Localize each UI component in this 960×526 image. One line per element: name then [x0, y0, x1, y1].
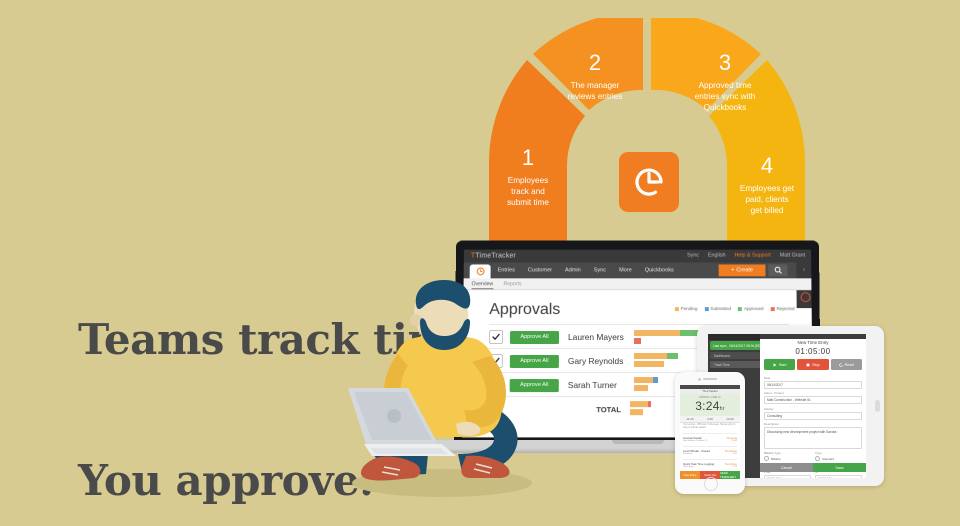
radio-icon — [764, 456, 769, 461]
app-top-bar: TTimeTracker Sync English Help & Support… — [464, 250, 811, 263]
field-label-type: Type — [815, 451, 862, 455]
segment-2-line2: reviews entries — [568, 92, 623, 101]
employee-name: Sarah Turner — [568, 380, 634, 390]
phone-timer-panel: MONDAY, JUNE 14 3:24hr — [680, 394, 740, 417]
legend-swatch-pending — [675, 307, 679, 311]
list-item-status: No Action — [725, 462, 737, 466]
bar-pending — [634, 353, 667, 359]
list-item-duration: 0:45 — [725, 453, 737, 455]
tablet-timer-display: 01:05:00 — [760, 347, 866, 356]
start-button-label: Start — [779, 363, 787, 367]
bar-submitted — [653, 377, 658, 383]
field-label-client-project: Client - Project — [764, 391, 862, 395]
create-button[interactable]: + Create — [719, 264, 766, 276]
list-item-title: Lunch Break - ClosedStandard — [683, 449, 710, 455]
list-item-label: Contract Detail — [683, 436, 702, 440]
list-item-value: No Action0:45 — [725, 449, 737, 455]
bar-pending-2 — [630, 409, 643, 415]
list-item[interactable]: Lunch Break - ClosedStandard No Action0:… — [683, 446, 737, 455]
from-time-field[interactable]: 09:00 AM — [764, 475, 811, 478]
radio-label: Standard — [822, 457, 834, 461]
nav-item-entries[interactable]: Entries — [498, 267, 515, 273]
stop-icon — [806, 363, 810, 367]
nav-item-customer[interactable]: Customer — [528, 267, 552, 273]
radio-billable[interactable]: Billable — [764, 456, 811, 461]
plus-icon: + — [731, 267, 734, 273]
client-project-select[interactable]: Matt Construction - Website #1 — [764, 396, 862, 404]
list-item-sub: Consulting — [683, 466, 714, 468]
sync-status-banner[interactable]: Last sync - 06/14/2017 09:04 (EDT) — [710, 341, 761, 350]
search-button[interactable] — [768, 264, 787, 276]
list-item-title: Quick Task Time LoggingConsulting — [683, 462, 714, 468]
tablet-page-title: New Time Entry — [760, 340, 866, 345]
legend-pending: Pending — [675, 306, 698, 311]
phone-col-3: 14:00 — [720, 416, 740, 422]
search-icon — [774, 266, 782, 274]
bar-pending — [634, 330, 680, 336]
laptop-keys — [370, 448, 448, 454]
legend-swatch-rejected — [771, 307, 775, 311]
list-item[interactable]: Quick Task Time LoggingConsulting No Act… — [683, 459, 737, 468]
phone-timer-value: 3:24 — [695, 399, 720, 413]
legend-submitted: Submitted — [704, 306, 731, 311]
laptop-logo — [387, 409, 401, 423]
phone-time-columns: 11:00 3:00 14:00 — [680, 416, 740, 423]
list-item-value: No Action2:04 — [725, 462, 737, 468]
legend-swatch-approved — [738, 307, 742, 311]
nav-items: Entries Customer Admin Sync More Quickbo… — [498, 267, 674, 273]
legend-label-rejected: Rejected — [777, 306, 795, 311]
list-item-status: No Action — [725, 449, 737, 453]
phone-device: TimeTracker MONDAY, JUNE 14 3:24hr 11:00… — [675, 372, 745, 494]
date-field[interactable]: 06/14/2017 — [764, 381, 862, 389]
legend-approved: Approved — [738, 306, 764, 311]
list-item-value: Ongoing11:00 — [726, 436, 737, 442]
phone-timer-unit: hr — [720, 406, 725, 412]
tablet-main-panel: New Time Entry 01:05:00 Start Stop Reset — [760, 334, 866, 478]
sidebar-item-label: Track Time — [714, 363, 730, 367]
phone-col-2: 3:00 — [700, 416, 720, 422]
tablet-sidebar-header — [708, 334, 760, 340]
list-item-sub: Standard — [683, 453, 710, 455]
bar-pending — [634, 377, 653, 383]
list-item-title: Contract DetailNon Billable - Website #1 — [683, 436, 708, 442]
list-item-label: Quick Task Time Logging — [683, 462, 714, 466]
reset-button-label: Reset — [845, 363, 854, 367]
list-item-duration: 2:04 — [725, 466, 737, 468]
sidebar-item-label: Dashboard — [714, 354, 730, 358]
legend-rejected: Rejected — [771, 306, 795, 311]
nav-item-sync[interactable]: Sync — [594, 267, 606, 273]
brand-text: TimeTracker — [475, 252, 516, 259]
description-textarea[interactable]: Discussing new development project with … — [764, 427, 862, 449]
reset-button[interactable]: Reset — [831, 359, 862, 370]
phone-timer-display: 3:24hr — [680, 399, 740, 417]
segment-3-line2: entries sync with — [695, 92, 756, 101]
phone-col-1: 11:00 — [680, 416, 700, 422]
phone-home-button[interactable] — [704, 477, 718, 491]
segment-1-line2: track and — [511, 187, 545, 196]
new-entry-button[interactable]: New Entry — [680, 471, 700, 479]
cancel-button[interactable]: Cancel — [760, 463, 813, 472]
radio-standard[interactable]: Standard — [815, 456, 862, 461]
topbar-item-language[interactable]: English — [708, 253, 726, 259]
radio-label: Billable — [771, 457, 781, 461]
bar-pending-2 — [634, 385, 648, 391]
list-item[interactable]: Contract DetailNon Billable - Website #1… — [683, 433, 737, 442]
bar-pending — [630, 401, 648, 407]
bar-pending-2 — [634, 361, 664, 367]
app-nav-bar: Entries Customer Admin Sync More Quickbo… — [464, 262, 812, 278]
topbar-item-user[interactable]: Matt Grant — [780, 253, 805, 259]
segment-4-line3: get billed — [751, 206, 784, 215]
bar-approved — [667, 353, 678, 359]
legend-label-submitted: Submitted — [710, 306, 731, 311]
phone-screen: TimeTracker MONDAY, JUNE 14 3:24hr 11:00… — [680, 385, 740, 479]
radio-icon — [815, 456, 820, 461]
tablet-status-bar — [760, 334, 866, 339]
record-icon[interactable] — [800, 292, 810, 302]
create-button-label: Create — [736, 267, 753, 273]
topbar-item-sync[interactable]: Sync — [687, 253, 699, 259]
topbar-item-help[interactable]: Help & Support — [734, 253, 770, 259]
field-label-billable-type: Billable Type — [764, 451, 811, 455]
app-brand: TTimeTracker — [471, 252, 516, 259]
topbar-right-menu: Sync English Help & Support Matt Grant — [687, 253, 805, 259]
to-time-field[interactable]: 10:05 AM — [815, 475, 862, 478]
segment-3-line3: Quickbooks — [704, 103, 747, 112]
send-timesheet-button[interactable]: SEND TIMESHEET — [720, 471, 740, 479]
sidebar-item-track-time[interactable]: Track Time — [710, 361, 762, 368]
legend-swatch-submitted — [704, 307, 708, 311]
reset-icon — [839, 363, 843, 367]
list-item-sub: Non Billable - Website #1 — [683, 440, 708, 442]
chart-legend: Pending Submitted Approved Rejected — [675, 306, 795, 311]
bar-rejected-2 — [634, 338, 641, 344]
laptop-notch — [612, 440, 664, 444]
activity-select[interactable]: Consulting — [764, 412, 862, 420]
start-button[interactable]: Start — [764, 359, 795, 370]
sidebar-item-dashboard[interactable]: Dashboard — [710, 352, 762, 359]
segment-2-number: 2 — [589, 50, 601, 75]
segment-4-line2: paid, clients — [745, 195, 788, 204]
segment-3-number: 3 — [719, 50, 731, 75]
save-button[interactable]: Save — [813, 463, 866, 472]
list-item-status: Ongoing — [726, 436, 737, 440]
nav-item-admin[interactable]: Admin — [565, 267, 581, 273]
segment-3-line1: Approved time — [699, 81, 752, 90]
nav-item-quickbooks[interactable]: Quickbooks — [645, 267, 674, 273]
seated-man-with-laptop-illustration — [330, 278, 555, 513]
legend-label-pending: Pending — [681, 306, 698, 311]
phone-camera — [698, 378, 701, 381]
segment-1-number: 1 — [522, 145, 534, 170]
employee-name: Gary Reynolds — [568, 356, 634, 366]
chevron-left-icon[interactable]: ‹ — [800, 266, 808, 274]
stop-button-label: Stop — [812, 363, 819, 367]
play-icon — [773, 363, 777, 367]
list-item-label: Lunch Break - Closed — [683, 449, 710, 453]
poster-canvas: Teams track time. You approve. 1 Employe… — [0, 0, 960, 526]
employee-name: Lauren Mayers — [568, 332, 634, 342]
segment-1-line3: submit time — [507, 198, 549, 207]
timer-controls: Start Stop Reset — [764, 359, 862, 370]
process-infographic: 1 Employees track and submit time 2 The … — [462, 18, 822, 263]
sync-status-label: Last sync - 06/14/2017 09:04 (EDT) — [713, 344, 761, 348]
phone-helper-text: Your entries - 285 total, 9 this week. T… — [683, 424, 737, 431]
home-logo-icon[interactable] — [470, 264, 491, 278]
bar-rejected — [648, 401, 651, 407]
tablet-home-button[interactable] — [875, 400, 880, 412]
field-label-description: Description — [764, 422, 862, 426]
segment-2-line1: The manager — [571, 81, 620, 90]
nav-item-more[interactable]: More — [619, 267, 632, 273]
segment-4-line1: Employees get — [740, 184, 795, 193]
segment-4-number: 4 — [761, 153, 773, 178]
tablet-form-footer: Cancel Save — [760, 463, 866, 472]
field-label-activity: Activity — [764, 407, 862, 411]
legend-label-approved: Approved — [744, 306, 764, 311]
list-item-duration: 11:00 — [726, 440, 737, 442]
clock-logo-icon — [619, 152, 679, 212]
stop-button[interactable]: Stop — [797, 359, 828, 370]
phone-speaker — [703, 378, 717, 380]
segment-1-line1: Employees — [508, 176, 549, 185]
field-label-date: Date — [764, 376, 862, 380]
